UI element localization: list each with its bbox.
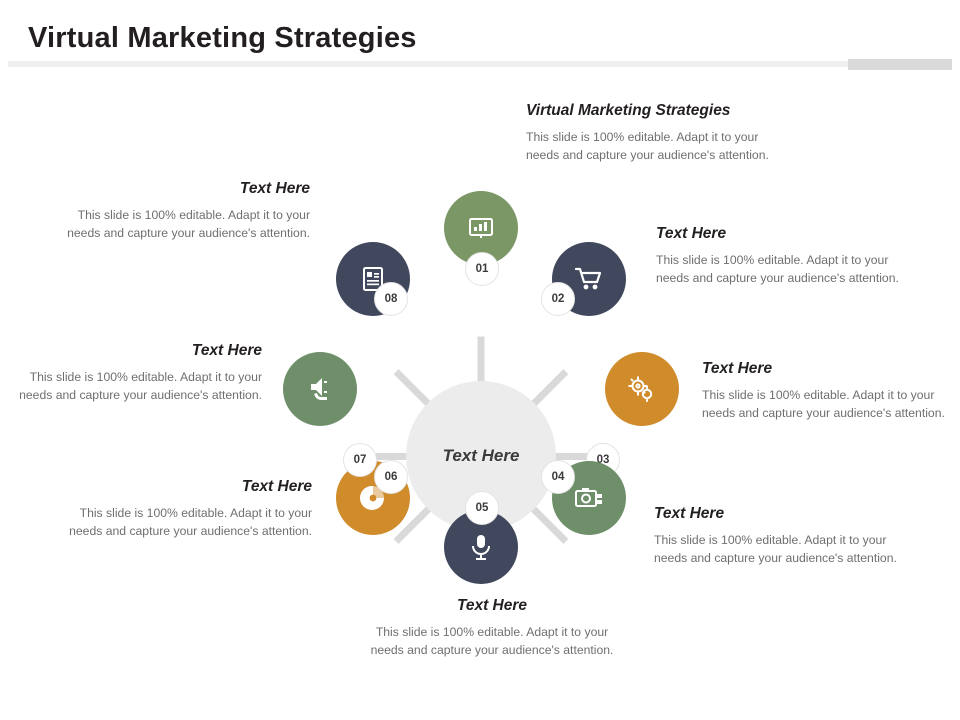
callout-04-body: This slide is 100% editable. Adapt it to…	[654, 531, 904, 568]
callout-01-body: This slide is 100% editable. Adapt it to…	[526, 128, 776, 165]
badge-08: 08	[374, 282, 408, 316]
node-03[interactable]	[605, 352, 679, 426]
presentation-chart-icon	[466, 213, 496, 243]
badge-02-label: 02	[552, 293, 565, 305]
radial-diagram: Text Here 01	[0, 70, 960, 720]
badge-04: 04	[541, 460, 575, 494]
node-07[interactable]	[283, 352, 357, 426]
callout-02: Text Here This slide is 100% editable. A…	[656, 225, 926, 288]
microphone-icon	[468, 532, 494, 562]
badge-04-label: 04	[552, 471, 565, 483]
callout-03-heading: Text Here	[702, 360, 960, 379]
callout-07-heading: Text Here	[12, 342, 262, 361]
header-divider	[8, 61, 952, 67]
badge-08-label: 08	[385, 293, 398, 305]
callout-08: Text Here This slide is 100% editable. A…	[60, 180, 310, 243]
callout-02-body: This slide is 100% editable. Adapt it to…	[656, 251, 911, 288]
badge-06-label: 06	[385, 471, 398, 483]
gears-icon	[626, 374, 658, 404]
callout-02-heading: Text Here	[656, 225, 926, 244]
callout-06-heading: Text Here	[62, 478, 312, 497]
shopping-cart-icon	[573, 264, 605, 294]
badge-01-label: 01	[476, 263, 489, 275]
callout-05-heading: Text Here	[242, 597, 742, 616]
callout-01: Virtual Marketing Strategies This slide …	[526, 102, 791, 165]
callout-06-body: This slide is 100% editable. Adapt it to…	[62, 504, 312, 541]
page-title: Virtual Marketing Strategies	[28, 22, 417, 55]
badge-01: 01	[465, 252, 499, 286]
callout-03: Text Here This slide is 100% editable. A…	[702, 360, 960, 423]
badge-07: 07	[343, 443, 377, 477]
header-tab-marker	[848, 59, 952, 70]
callout-08-body: This slide is 100% editable. Adapt it to…	[60, 206, 310, 243]
badge-05: 05	[465, 491, 499, 525]
callout-05: Text Here This slide is 100% editable. A…	[242, 597, 742, 660]
callout-06: Text Here This slide is 100% editable. A…	[62, 478, 312, 541]
camera-photos-icon	[573, 484, 605, 512]
callout-08-heading: Text Here	[60, 180, 310, 199]
callout-04-heading: Text Here	[654, 505, 919, 524]
badge-02: 02	[541, 282, 575, 316]
callout-03-body: This slide is 100% editable. Adapt it to…	[702, 386, 952, 423]
badge-05-label: 05	[476, 502, 489, 514]
badge-06: 06	[374, 460, 408, 494]
hub-label: Text Here	[443, 446, 520, 466]
hand-megaphone-icon	[305, 374, 335, 404]
callout-04: Text Here This slide is 100% editable. A…	[654, 505, 919, 568]
badge-07-label: 07	[354, 454, 367, 466]
callout-07: Text Here This slide is 100% editable. A…	[12, 342, 262, 405]
callout-05-body: This slide is 100% editable. Adapt it to…	[367, 623, 617, 660]
callout-01-heading: Virtual Marketing Strategies	[526, 102, 791, 121]
callout-07-body: This slide is 100% editable. Adapt it to…	[12, 368, 262, 405]
slide-canvas: Virtual Marketing Strategies Text Here	[0, 0, 960, 720]
